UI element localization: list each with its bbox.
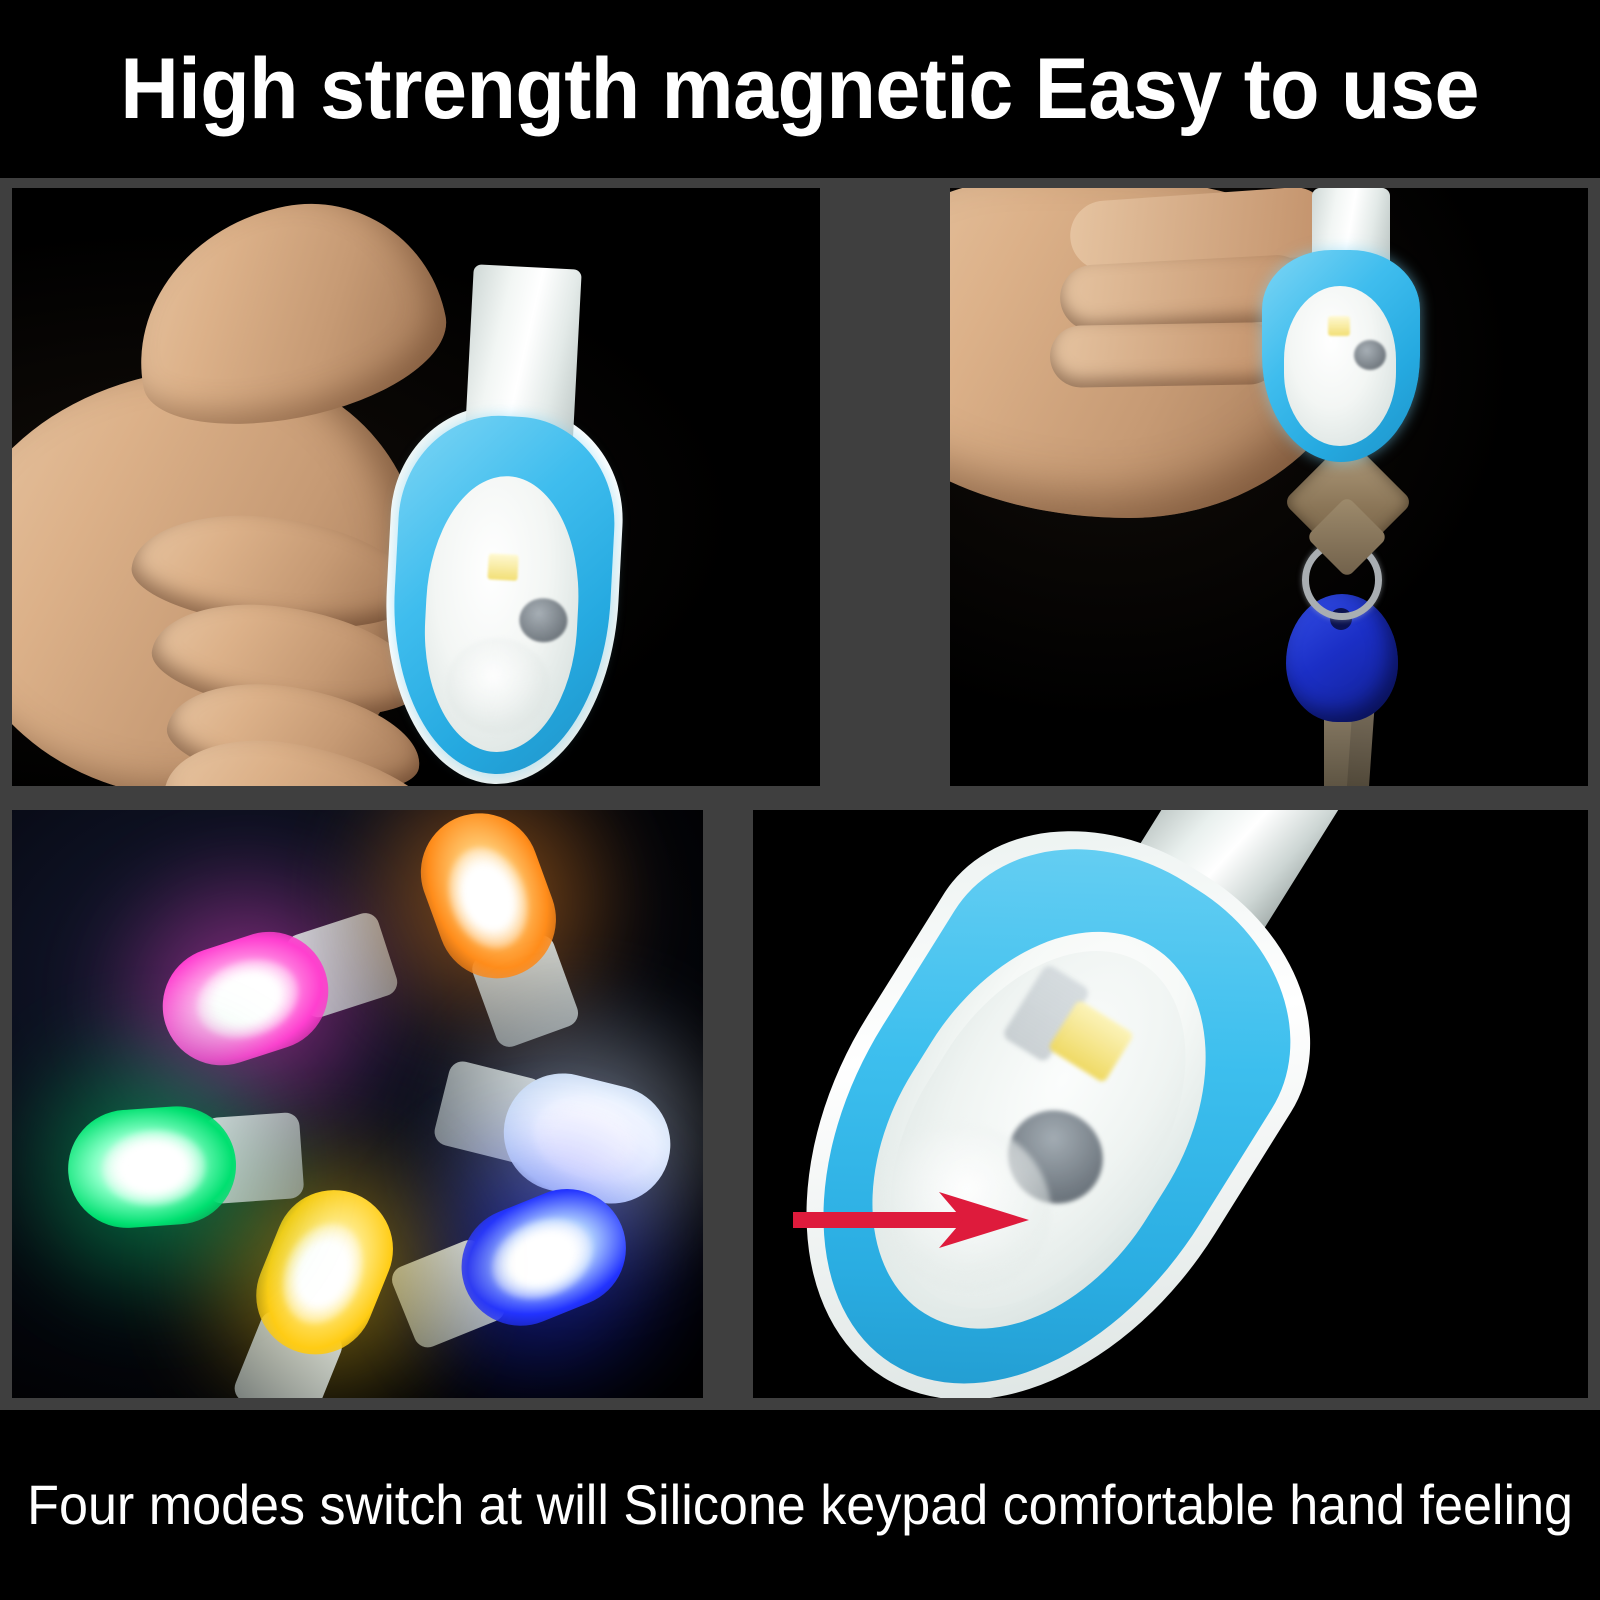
photo-grid — [0, 178, 1600, 1410]
green-light — [64, 1098, 302, 1232]
product-infographic: High strength magnetic Easy to use — [0, 0, 1600, 1600]
photo-hand-holding-light — [12, 188, 820, 786]
photo-six-color-lights — [12, 810, 703, 1398]
magnet-disc — [1354, 340, 1386, 370]
led-chip — [487, 553, 518, 581]
headline-text: High strength magnetic Easy to use — [121, 46, 1480, 132]
caption-banner: Four modes switch at will Silicone keypa… — [0, 1410, 1600, 1600]
light-on-keys-panel — [950, 188, 1588, 786]
keypad-closeup-panel — [753, 810, 1588, 1398]
six-color-lights-panel — [12, 810, 703, 1398]
keypad-arrow — [793, 1188, 1063, 1252]
arrow-icon — [793, 1188, 1063, 1252]
finger-ring — [1049, 322, 1280, 388]
clip-light-device — [368, 260, 635, 786]
headline-banner: High strength magnetic Easy to use — [0, 0, 1600, 178]
photo-keypad-closeup — [753, 810, 1588, 1398]
photo-light-on-keys — [950, 188, 1588, 786]
clip-light-device — [1250, 188, 1430, 488]
led-chip — [1328, 316, 1350, 336]
hand-holding-light-panel — [12, 188, 820, 786]
caption-text: Four modes switch at will Silicone keypa… — [27, 1477, 1573, 1533]
